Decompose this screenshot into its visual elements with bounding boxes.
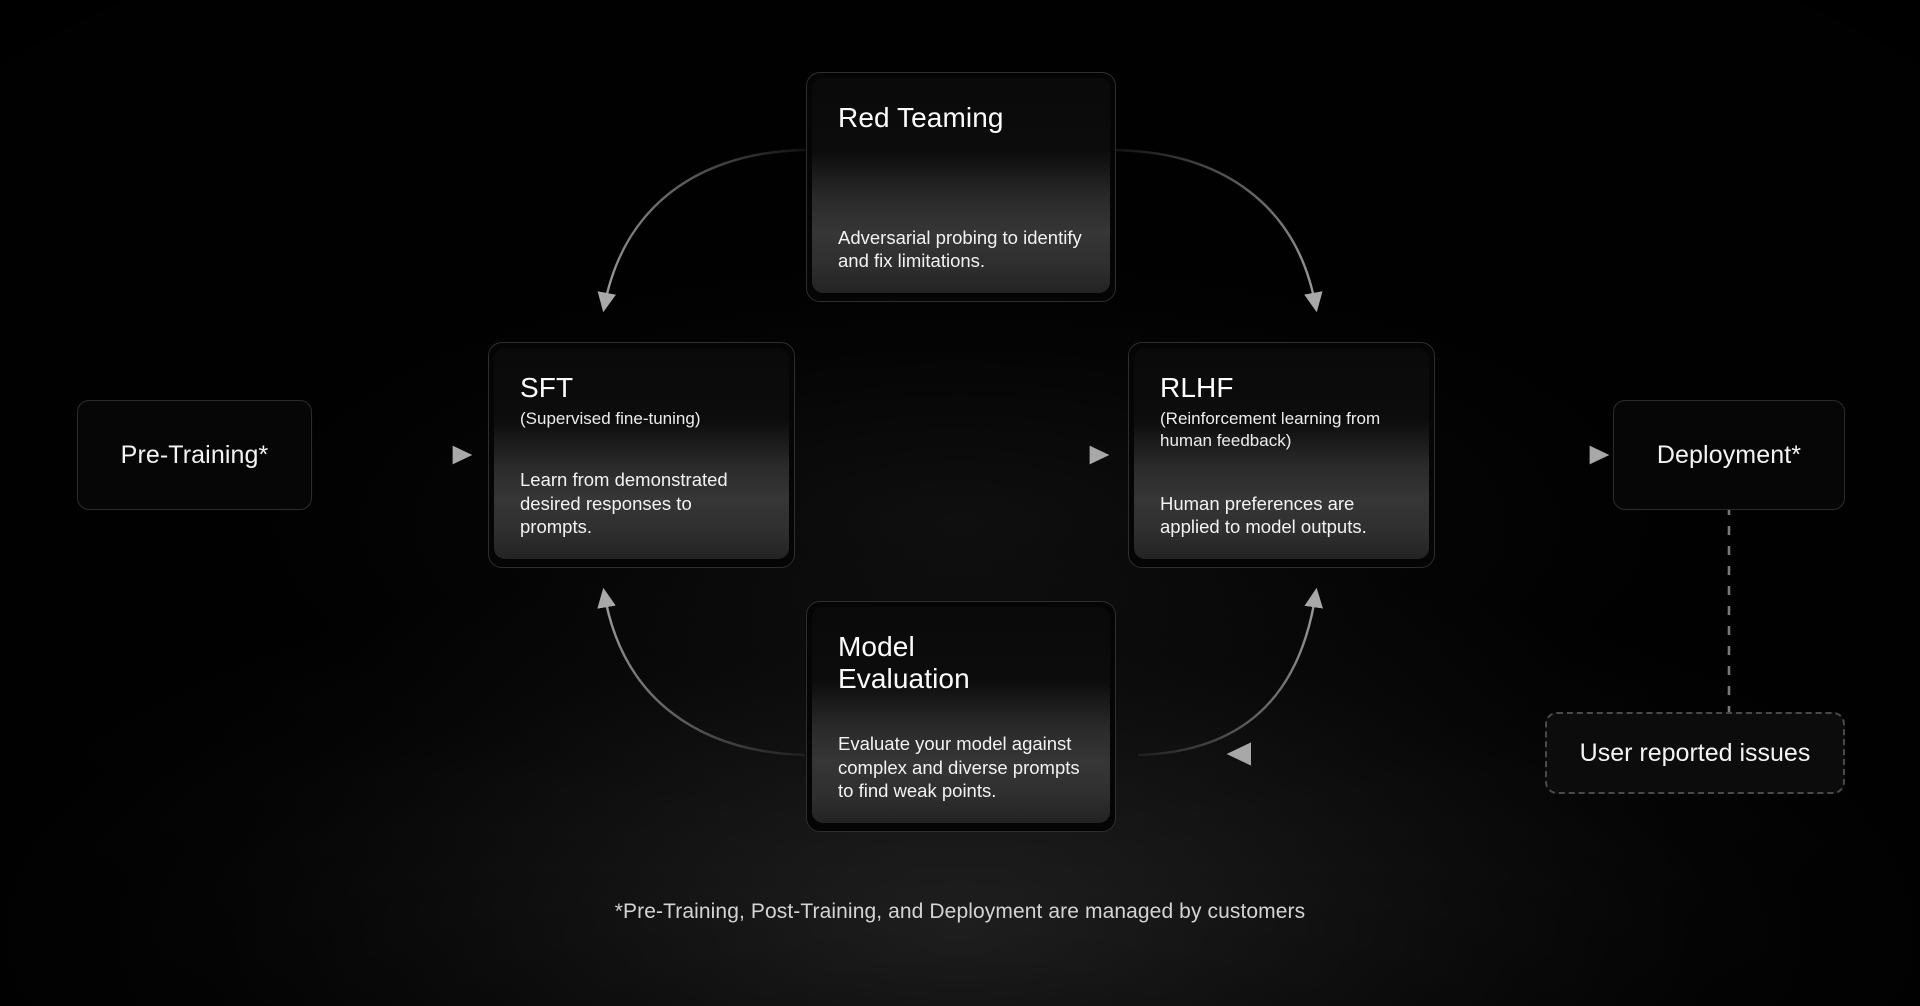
arrow-redteaming-to-rlhf: [1115, 150, 1316, 308]
arrow-redteaming-to-sft: [604, 150, 805, 308]
model-evaluation-title: Model Evaluation: [838, 631, 1048, 696]
node-rlhf[interactable]: RLHF (Reinforcement learning from human …: [1128, 342, 1435, 568]
red-teaming-panel: Red Teaming Adversarial probing to ident…: [812, 78, 1110, 293]
diagram-canvas: Pre-Training* Red Teaming Adversarial pr…: [0, 0, 1920, 1006]
model-evaluation-head: Model Evaluation: [838, 631, 1084, 696]
red-teaming-title: Red Teaming: [838, 102, 1084, 134]
node-red-teaming[interactable]: Red Teaming Adversarial probing to ident…: [806, 72, 1116, 302]
rlhf-body: Human preferences are applied to model o…: [1160, 492, 1403, 539]
node-user-reported-issues[interactable]: User reported issues: [1545, 712, 1845, 794]
rlhf-subtitle: (Reinforcement learning from human feedb…: [1160, 408, 1403, 451]
node-model-evaluation[interactable]: Model Evaluation Evaluate your model aga…: [806, 601, 1116, 832]
pre-training-title: Pre-Training*: [121, 441, 269, 470]
node-deployment[interactable]: Deployment*: [1613, 400, 1845, 510]
node-sft[interactable]: SFT (Supervised fine-tuning) Learn from …: [488, 342, 795, 568]
user-reported-issues-title: User reported issues: [1580, 739, 1811, 768]
model-evaluation-panel: Model Evaluation Evaluate your model aga…: [812, 607, 1110, 823]
arrow-modeleval-to-rlhf: [1138, 592, 1316, 755]
rlhf-head: RLHF (Reinforcement learning from human …: [1160, 372, 1403, 451]
sft-body: Learn from demonstrated desired response…: [520, 468, 763, 539]
red-teaming-head: Red Teaming: [838, 102, 1084, 134]
deployment-title: Deployment*: [1657, 441, 1801, 470]
node-pre-training[interactable]: Pre-Training*: [77, 400, 312, 510]
rlhf-title: RLHF: [1160, 372, 1403, 404]
arrow-modeleval-to-sft: [604, 592, 805, 755]
footnote: *Pre-Training, Post-Training, and Deploy…: [0, 900, 1920, 924]
sft-panel: SFT (Supervised fine-tuning) Learn from …: [494, 348, 789, 559]
sft-head: SFT (Supervised fine-tuning): [520, 372, 763, 430]
red-teaming-body: Adversarial probing to identify and fix …: [838, 226, 1084, 273]
sft-title: SFT: [520, 372, 763, 404]
model-evaluation-body: Evaluate your model against complex and …: [838, 732, 1084, 803]
sft-subtitle: (Supervised fine-tuning): [520, 408, 763, 429]
rlhf-panel: RLHF (Reinforcement learning from human …: [1134, 348, 1429, 559]
